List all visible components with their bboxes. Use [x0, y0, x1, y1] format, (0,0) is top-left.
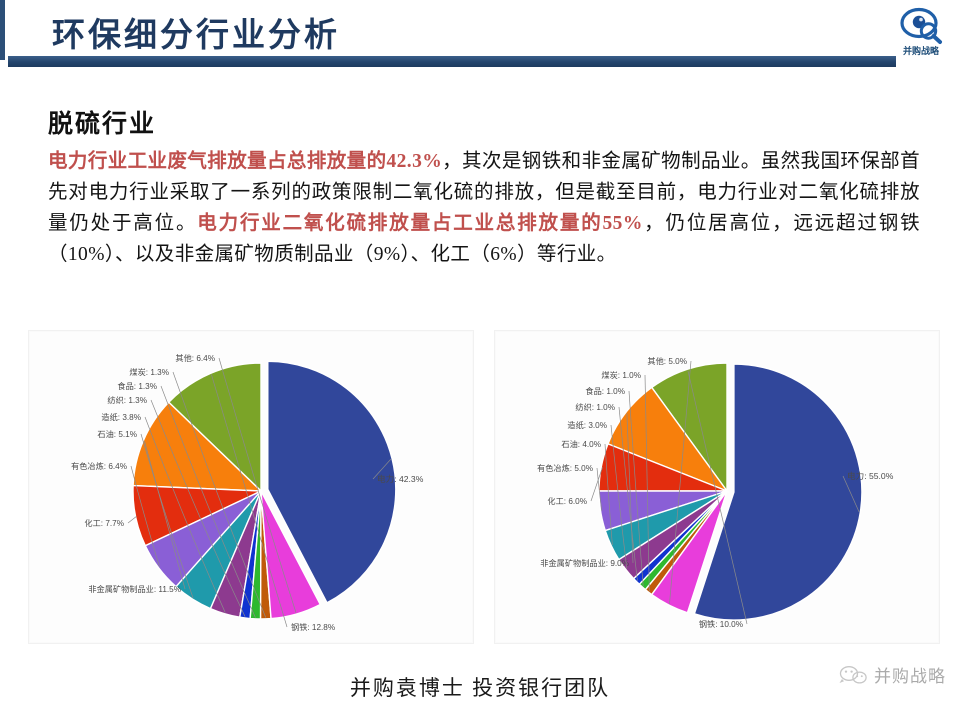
pie-label-so2-0: 电力: 55.0% — [847, 470, 894, 481]
pie-label-waste-gas-2: 非金属矿物制品业: 11.5% — [88, 584, 181, 594]
pie-svg-waste-gas: 电力: 42.3%钢铁: 12.8%非金属矿物制品业: 11.5%化工: 7.7… — [29, 331, 473, 643]
charts-row: 电力: 42.3%钢铁: 12.8%非金属矿物制品业: 11.5%化工: 7.7… — [28, 330, 938, 642]
wechat-watermark-text: 并购战略 — [874, 662, 946, 687]
content-body: 脱硫行业 电力行业工业废气排放量占总排放量的42.3%，其次是钢铁和非金属矿物制… — [48, 104, 920, 270]
brand-logo-text: 并购战略 — [890, 46, 952, 56]
pie-chart-waste-gas[interactable]: 电力: 42.3%钢铁: 12.8%非金属矿物制品业: 11.5%化工: 7.7… — [29, 331, 473, 643]
wechat-icon — [838, 664, 868, 686]
body-paragraph: 电力行业工业废气排放量占总排放量的42.3%，其次是钢铁和非金属矿物制品业。虽然… — [48, 146, 920, 270]
footer-team-text: 并购袁博士 投资银行团队 — [350, 676, 610, 700]
pie-label-waste-gas-9: 煤炭: 1.3% — [129, 367, 169, 377]
pie-label-waste-gas-6: 造纸: 3.8% — [101, 412, 141, 422]
brand-logo: 并购战略 — [890, 6, 952, 62]
pie-label-waste-gas-1: 钢铁: 12.8% — [291, 622, 335, 632]
pie-svg-so2: 电力: 55.0%钢铁: 10.0%非金属矿物制品业: 9.0%化工: 6.0%… — [495, 331, 939, 643]
slide-footer: 并购袁博士 投资银行团队 — [0, 672, 960, 702]
wechat-watermark: 并购战略 — [838, 662, 946, 687]
pie-label-waste-gas-10: 其他: 6.4% — [175, 353, 215, 363]
pie-label-waste-gas-4: 有色冶炼: 6.4% — [71, 461, 127, 471]
header-divider-bar — [8, 56, 896, 67]
pie-label-waste-gas-0: 电力: 42.3% — [377, 473, 424, 484]
header-left-accent-rule — [0, 0, 5, 60]
pie-label-so2-4: 有色冶炼: 5.0% — [537, 463, 593, 473]
pie-label-so2-8: 食品: 1.0% — [585, 386, 625, 396]
pie-chart-so2[interactable]: 电力: 55.0%钢铁: 10.0%非金属矿物制品业: 9.0%化工: 6.0%… — [495, 331, 939, 643]
pie-label-so2-5: 石油: 4.0% — [561, 439, 601, 449]
chart-card-so2: 电力: 55.0%钢铁: 10.0%非金属矿物制品业: 9.0%化工: 6.0%… — [494, 330, 940, 644]
chart-card-waste-gas: 电力: 42.3%钢铁: 12.8%非金属矿物制品业: 11.5%化工: 7.7… — [28, 330, 474, 644]
pie-label-so2-7: 纺织: 1.0% — [575, 402, 615, 412]
slide-header: 环保细分行业分析 并购战略 — [0, 0, 960, 72]
eye-magnifier-icon — [899, 6, 943, 46]
paragraph-run-0: 电力行业工业废气排放量占总排放量的42.3% — [48, 151, 442, 172]
pie-label-so2-2: 非金属矿物制品业: 9.0% — [540, 558, 629, 568]
pie-label-waste-gas-8: 食品: 1.3% — [117, 381, 157, 391]
pie-label-so2-3: 化工: 6.0% — [547, 496, 587, 506]
pie-label-so2-10: 其他: 5.0% — [647, 356, 687, 366]
pie-label-so2-1: 钢铁: 10.0% — [699, 619, 743, 629]
pie-label-waste-gas-3: 化工: 7.7% — [84, 518, 124, 528]
pie-label-waste-gas-5: 石油: 5.1% — [97, 429, 137, 439]
paragraph-run-2: 电力行业二氧化硫排放量占工业总排放量的55% — [197, 213, 642, 234]
section-heading: 脱硫行业 — [48, 104, 920, 140]
page-title: 环保细分行业分析 — [52, 8, 340, 56]
pie-label-so2-9: 煤炭: 1.0% — [601, 370, 641, 380]
pie-label-waste-gas-7: 纺织: 1.3% — [107, 395, 147, 405]
pie-label-so2-6: 造纸: 3.0% — [567, 420, 607, 430]
